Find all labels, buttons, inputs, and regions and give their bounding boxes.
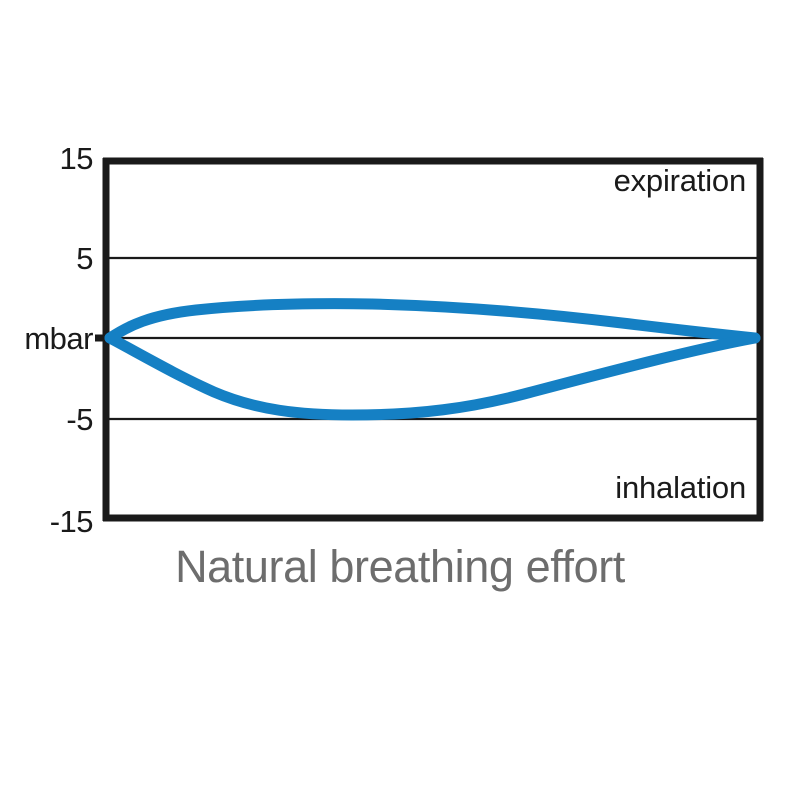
breathing-loop xyxy=(110,304,755,415)
expiration-curve xyxy=(110,304,755,338)
pressure-loop-plot xyxy=(0,0,800,800)
inhalation-curve xyxy=(110,338,755,415)
breathing-effort-figure: 15 5 mbar -5 -15 expiration inhalation N… xyxy=(0,0,800,800)
y-tick-label-minus-15: -15 xyxy=(0,506,93,537)
plot-frame xyxy=(103,158,763,521)
expiration-annotation: expiration xyxy=(614,165,746,196)
y-tick-label-5: 5 xyxy=(0,243,93,274)
y-tick-label-15: 15 xyxy=(0,143,93,174)
y-axis-unit-label: mbar xyxy=(0,323,93,354)
gridlines xyxy=(106,258,763,419)
y-tick-label-minus-5: -5 xyxy=(0,404,93,435)
chart-caption: Natural breathing effort xyxy=(0,540,800,594)
inhalation-annotation: inhalation xyxy=(615,472,746,503)
